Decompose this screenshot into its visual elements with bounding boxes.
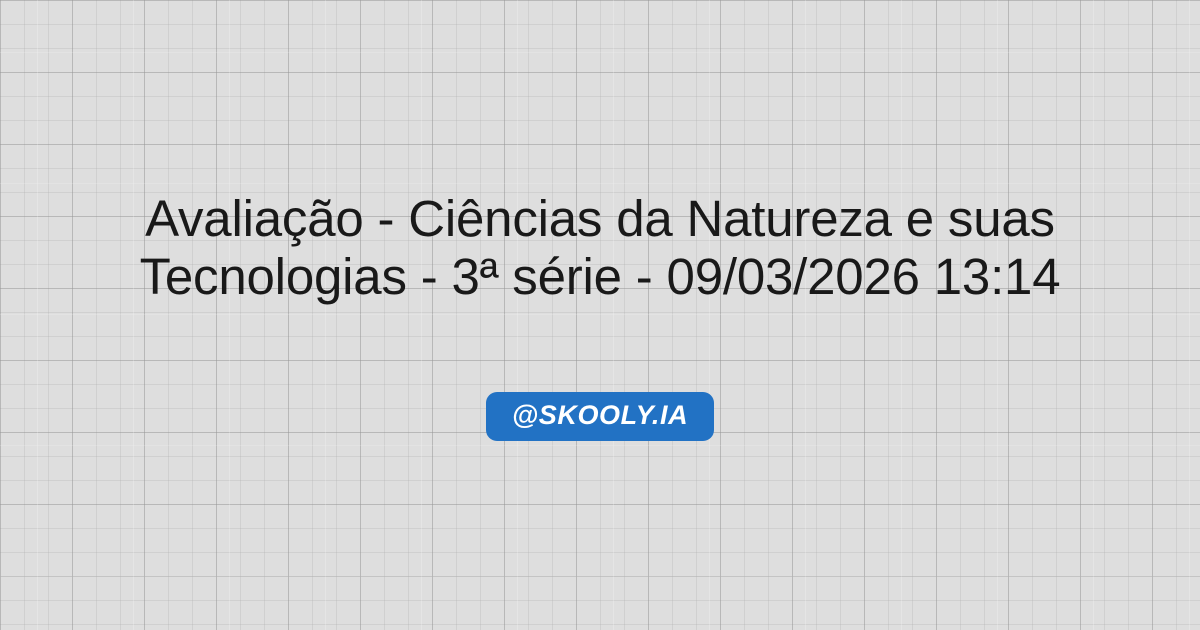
card-content: Avaliação - Ciências da Natureza e suas … <box>0 190 1200 441</box>
page-title: Avaliação - Ciências da Natureza e suas … <box>70 190 1130 306</box>
brand-row: @SKOOLY.IA <box>486 392 714 441</box>
brand-handle-badge[interactable]: @SKOOLY.IA <box>486 392 714 441</box>
preview-card: Avaliação - Ciências da Natureza e suas … <box>0 0 1200 630</box>
